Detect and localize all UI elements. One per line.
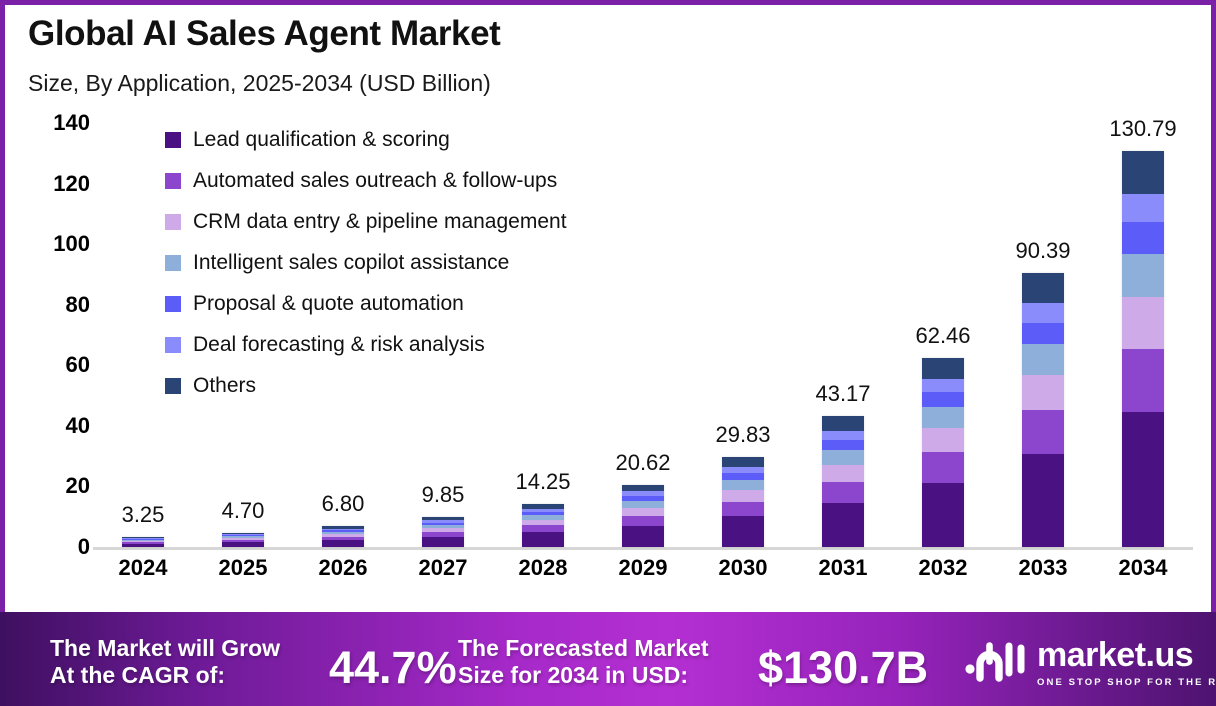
x-axis-tick-label: 2027 (393, 555, 493, 581)
bar-group-2034[interactable]: 130.79 (1093, 123, 1193, 547)
brand-logo[interactable]: market.us ONE STOP SHOP FOR THE REPORTS (965, 638, 1216, 688)
x-axis-tick-label: 2031 (793, 555, 893, 581)
bar-segment[interactable] (922, 358, 964, 379)
bar-segment[interactable] (822, 450, 864, 464)
bar-segment[interactable] (1122, 349, 1164, 412)
y-axis-tick-label: 140 (20, 110, 90, 136)
frame-border-right (1211, 0, 1216, 612)
bar-segment[interactable] (222, 542, 264, 547)
stacked-bar[interactable]: 3.25 (122, 537, 164, 547)
bar-segment[interactable] (822, 440, 864, 450)
bar-segment[interactable] (922, 428, 964, 453)
bar-segment[interactable] (622, 516, 664, 526)
x-axis-tick-label: 2025 (193, 555, 293, 581)
x-axis-tick-label: 2026 (293, 555, 393, 581)
footer-banner: The Market will Grow At the CAGR of: 44.… (0, 612, 1216, 706)
bar-segment[interactable] (1122, 412, 1164, 547)
infographic-root: Global AI Sales Agent Market Size, By Ap… (0, 0, 1216, 706)
stacked-bar[interactable]: 90.39 (1022, 273, 1064, 547)
bar-total-label: 43.17 (815, 381, 870, 407)
bar-segment[interactable] (422, 537, 464, 547)
bar-total-label: 29.83 (715, 422, 770, 448)
bar-segment[interactable] (722, 516, 764, 547)
chart-canvas: Global AI Sales Agent Market Size, By Ap… (5, 5, 1211, 612)
bar-group-2030[interactable]: 29.83 (693, 123, 793, 547)
plot-area: 020406080100120140 3.254.706.809.8514.25… (93, 123, 1193, 550)
bar-group-2032[interactable]: 62.46 (893, 123, 993, 547)
footer-cagr-label: The Market will Grow At the CAGR of: (50, 635, 280, 688)
bar-segment[interactable] (1022, 344, 1064, 374)
x-axis-tick-label: 2029 (593, 555, 693, 581)
bar-total-label: 14.25 (515, 469, 570, 495)
bar-segment[interactable] (622, 485, 664, 492)
bar-total-label: 130.79 (1109, 116, 1176, 142)
bar-segment[interactable] (1122, 194, 1164, 222)
bar-group-2031[interactable]: 43.17 (793, 123, 893, 547)
stacked-bar[interactable]: 62.46 (922, 358, 964, 547)
x-axis-tick-label: 2024 (93, 555, 193, 581)
bar-total-label: 62.46 (915, 323, 970, 349)
bar-total-label: 20.62 (615, 450, 670, 476)
page-title: Global AI Sales Agent Market (28, 14, 500, 54)
bar-segment[interactable] (822, 431, 864, 440)
bar-segment[interactable] (922, 483, 964, 547)
x-axis-tick-label: 2033 (993, 555, 1093, 581)
bar-group-2029[interactable]: 20.62 (593, 123, 693, 547)
x-axis-tick-label: 2032 (893, 555, 993, 581)
bar-segment[interactable] (1122, 151, 1164, 195)
bar-total-label: 6.80 (322, 491, 365, 517)
stacked-bar[interactable]: 9.85 (422, 517, 464, 547)
bar-segment[interactable] (822, 482, 864, 503)
bar-series-container: 3.254.706.809.8514.2520.6229.8343.1762.4… (93, 123, 1193, 547)
bar-segment[interactable] (1122, 297, 1164, 348)
x-axis-baseline (93, 547, 1193, 550)
page-subtitle: Size, By Application, 2025-2034 (USD Bil… (28, 70, 491, 97)
stacked-bar[interactable]: 29.83 (722, 457, 764, 547)
bar-segment[interactable] (722, 490, 764, 502)
bar-segment[interactable] (522, 525, 564, 532)
x-axis-tick-label: 2028 (493, 555, 593, 581)
x-axis-tick-label: 2030 (693, 555, 793, 581)
footer-cagr-label-line1: The Market will Grow (50, 635, 280, 661)
x-axis-labels: 2024202520262027202820292030203120322033… (93, 555, 1193, 595)
bar-segment[interactable] (622, 508, 664, 516)
bar-group-2028[interactable]: 14.25 (493, 123, 593, 547)
bar-segment[interactable] (1022, 323, 1064, 345)
stacked-bar[interactable]: 130.79 (1122, 151, 1164, 547)
bar-segment[interactable] (1022, 410, 1064, 454)
bar-segment[interactable] (1122, 222, 1164, 254)
footer-size-label: The Forecasted Market Size for 2034 in U… (458, 635, 709, 688)
y-axis-tick-label: 120 (20, 171, 90, 197)
bar-segment[interactable] (722, 473, 764, 480)
bar-total-label: 9.85 (422, 482, 465, 508)
logo-tagline: ONE STOP SHOP FOR THE REPORTS (1037, 677, 1216, 688)
stacked-bar[interactable]: 20.62 (622, 485, 664, 547)
y-axis-tick-label: 20 (20, 473, 90, 499)
bar-segment[interactable] (822, 416, 864, 430)
bar-group-2026[interactable]: 6.80 (293, 123, 393, 547)
market-logo-icon (965, 640, 1027, 682)
footer-cagr-label-line2: At the CAGR of: (50, 662, 225, 688)
bar-total-label: 4.70 (222, 498, 265, 524)
y-axis-tick-label: 40 (20, 413, 90, 439)
bar-segment[interactable] (922, 379, 964, 392)
x-axis-tick-label: 2034 (1093, 555, 1193, 581)
bar-total-label: 3.25 (122, 502, 165, 528)
bar-group-2025[interactable]: 4.70 (193, 123, 293, 547)
footer-size-value: $130.7B (758, 642, 928, 694)
y-axis-tick-label: 100 (20, 231, 90, 257)
bar-segment[interactable] (1122, 254, 1164, 298)
bar-segment[interactable] (622, 526, 664, 547)
bar-segment[interactable] (322, 540, 364, 547)
bar-segment[interactable] (722, 502, 764, 516)
y-axis-tick-label: 0 (20, 534, 90, 560)
bar-segment[interactable] (822, 503, 864, 547)
logo-name: market.us (1037, 638, 1216, 672)
bar-segment[interactable] (922, 452, 964, 482)
logo-wordmark: market.us ONE STOP SHOP FOR THE REPORTS (1037, 638, 1216, 688)
y-axis-tick-label: 80 (20, 292, 90, 318)
bar-segment[interactable] (1022, 303, 1064, 322)
bar-segment[interactable] (122, 544, 164, 547)
stacked-bar[interactable]: 4.70 (222, 533, 264, 547)
bar-segment[interactable] (522, 532, 564, 547)
stacked-bar[interactable]: 14.25 (522, 504, 564, 547)
bar-group-2033[interactable]: 90.39 (993, 123, 1093, 547)
stacked-bar[interactable]: 43.17 (822, 416, 864, 547)
bar-group-2027[interactable]: 9.85 (393, 123, 493, 547)
bar-segment[interactable] (922, 407, 964, 428)
y-axis-tick-label: 60 (20, 352, 90, 378)
bar-segment[interactable] (922, 392, 964, 407)
bar-total-label: 90.39 (1015, 238, 1070, 264)
footer-size-label-line1: The Forecasted Market (458, 635, 709, 661)
bar-segment[interactable] (822, 465, 864, 482)
bar-segment[interactable] (1022, 273, 1064, 303)
bar-segment[interactable] (722, 457, 764, 467)
bar-group-2024[interactable]: 3.25 (93, 123, 193, 547)
bar-segment[interactable] (722, 480, 764, 490)
bar-segment[interactable] (1022, 454, 1064, 547)
footer-cagr-value: 44.7% (329, 642, 457, 694)
stacked-bar[interactable]: 6.80 (322, 526, 364, 547)
bar-segment[interactable] (1022, 375, 1064, 411)
bar-segment[interactable] (622, 501, 664, 508)
footer-size-label-line2: Size for 2034 in USD: (458, 662, 688, 688)
